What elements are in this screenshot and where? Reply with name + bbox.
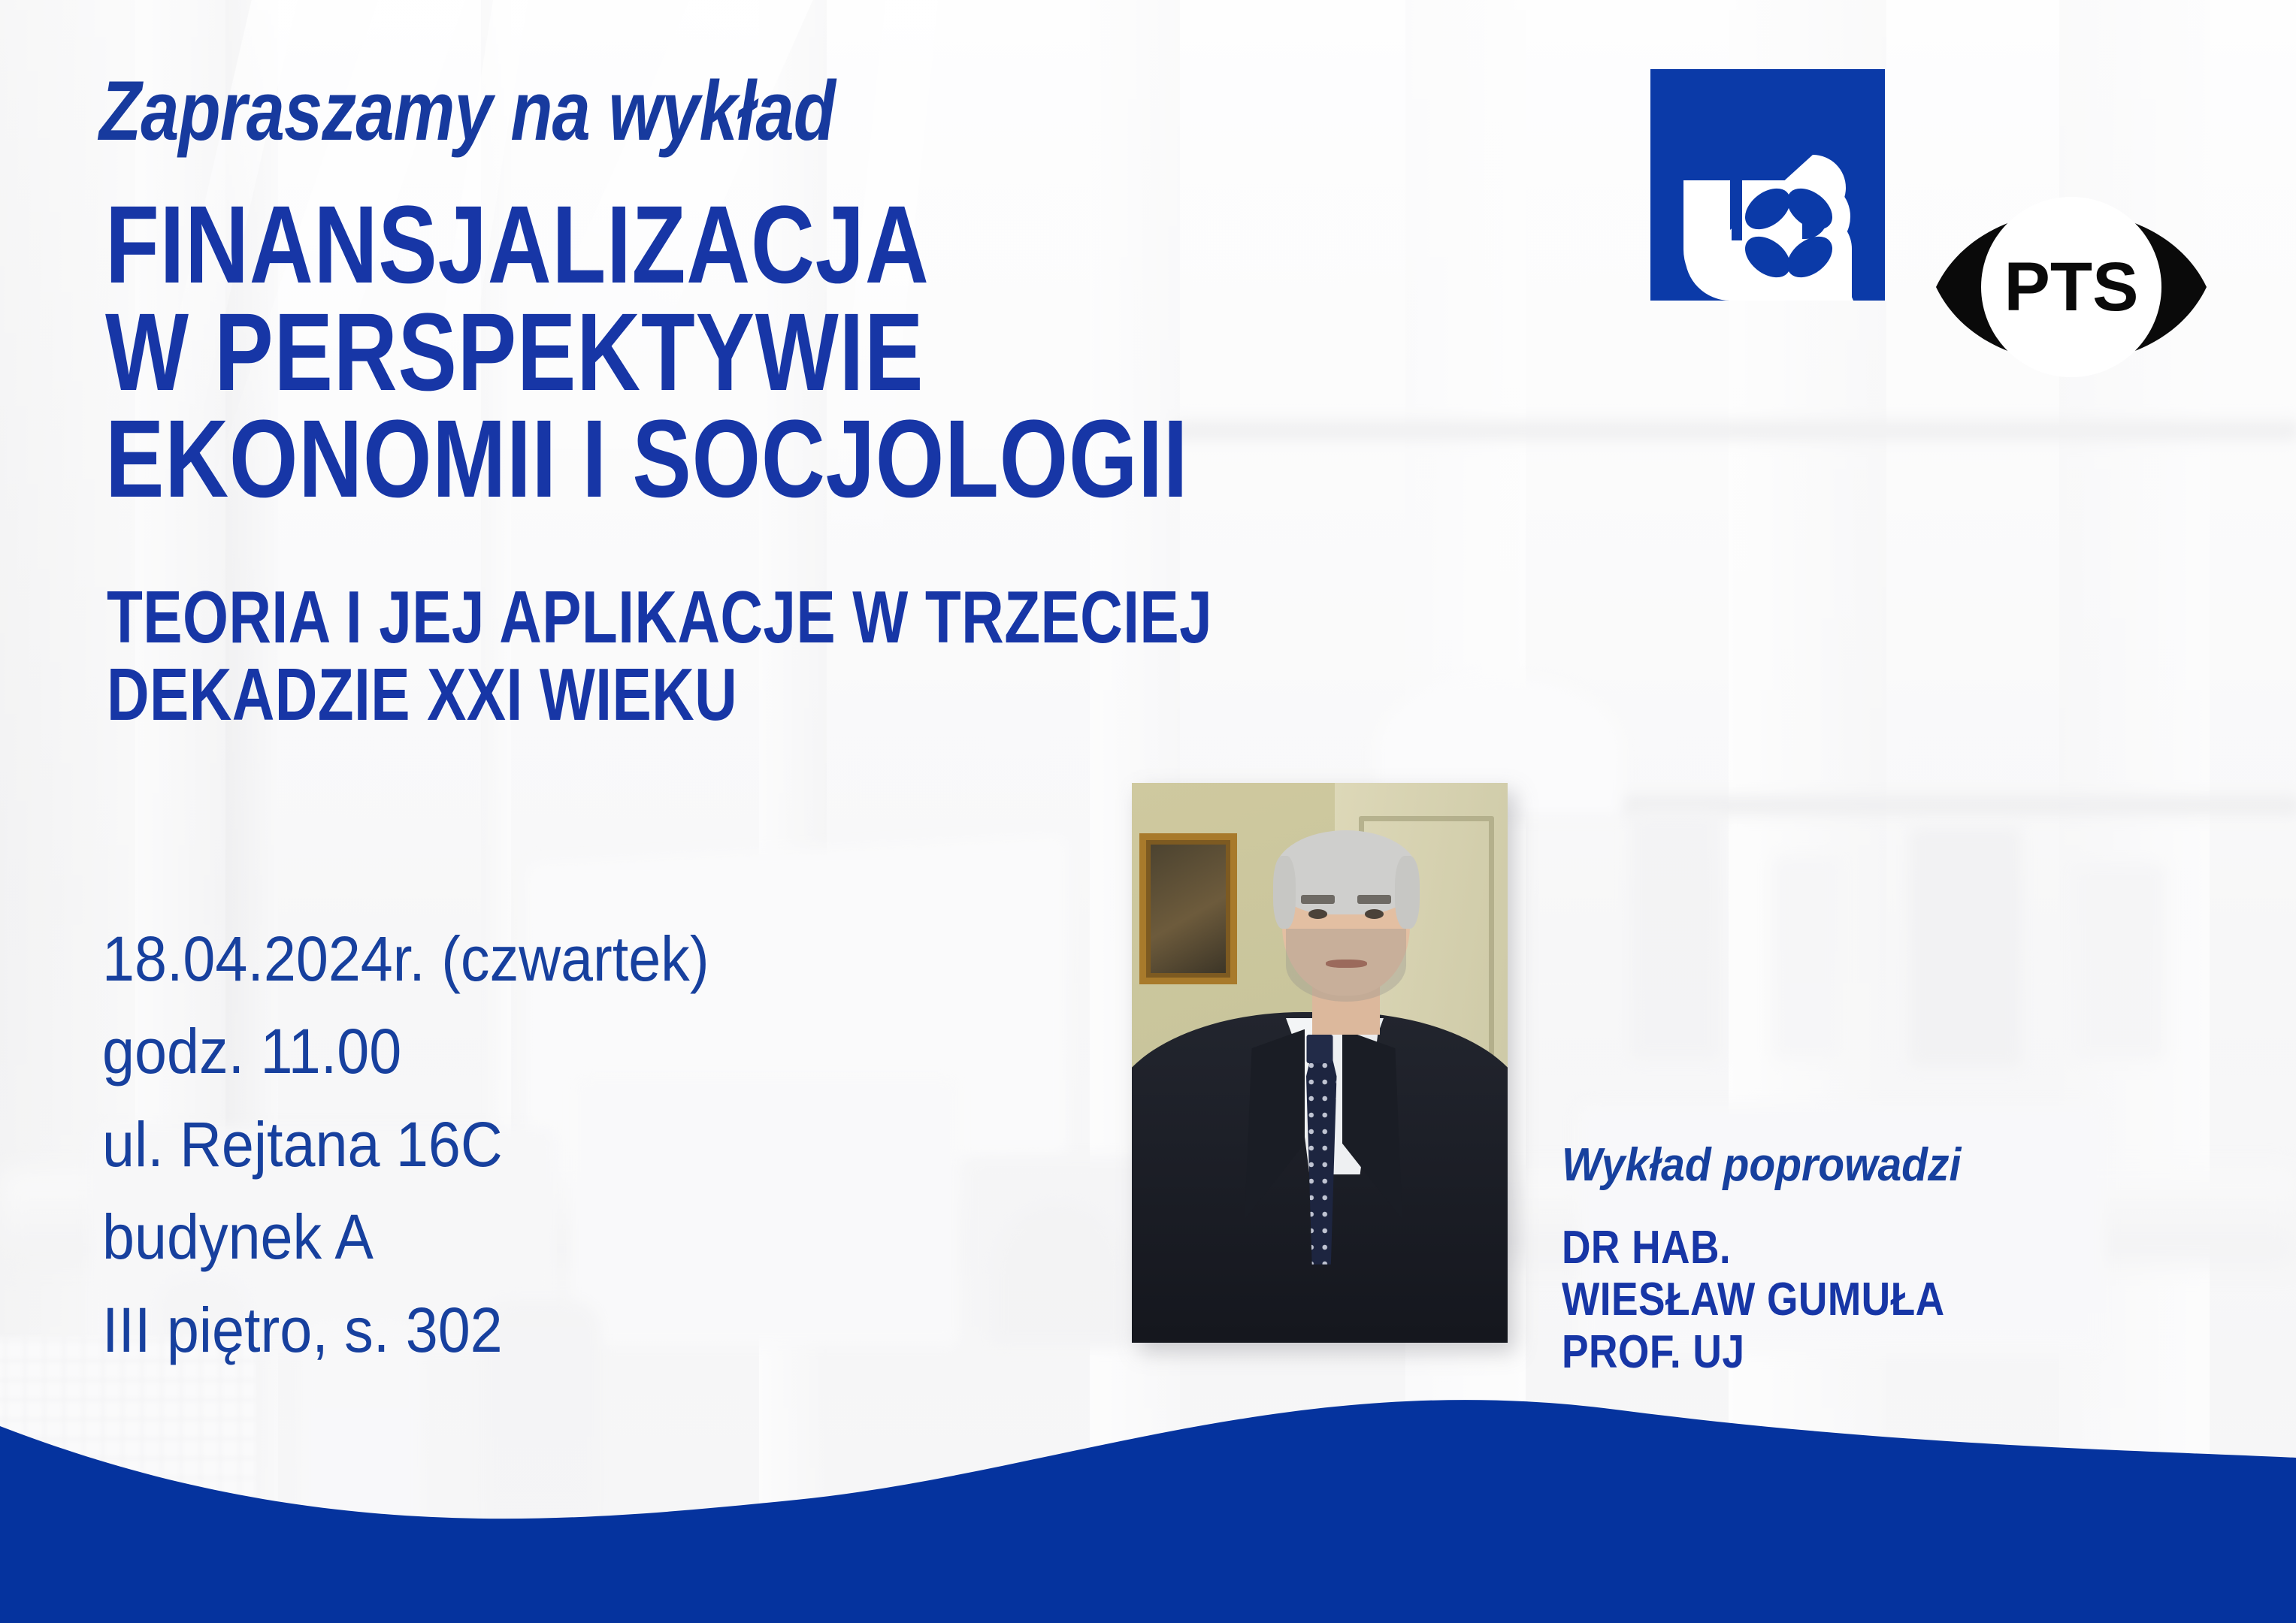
bottom-wave <box>0 1375 2296 1623</box>
pts-logo-icon: PTS <box>1931 147 2211 427</box>
event-details: 18.04.2024r. (czwartek) godz. 11.00 ul. … <box>102 913 709 1377</box>
photo-eyebrow <box>1357 895 1391 904</box>
photo-framed-painting <box>1139 833 1237 984</box>
pts-logo: PTS <box>1931 147 2211 427</box>
ur-logo-icon <box>1650 69 1885 301</box>
page-title: FINANSJALIZACJA W PERSPEKTYWIE EKONOMII … <box>105 192 1188 513</box>
photo-hair <box>1273 856 1296 929</box>
speaker-photo <box>1132 783 1508 1343</box>
ur-logo <box>1650 69 1885 301</box>
speaker-name: DR HAB. WIESŁAW GUMUŁA PROF. UJ <box>1562 1222 2143 1378</box>
speaker-block: Wykład poprowadzi DR HAB. WIESŁAW GUMUŁA… <box>1562 1142 2238 1378</box>
pts-logo-text: PTS <box>2004 249 2139 325</box>
photo-tie-knot <box>1307 1035 1333 1062</box>
photo-eyebrow <box>1301 895 1335 904</box>
invite-heading: Zapraszamy na wykład <box>99 69 835 153</box>
speaker-lead-label: Wykład poprowadzi <box>1562 1142 2184 1189</box>
photo-hair <box>1395 856 1420 929</box>
page-subtitle: TEORIA I JEJ APLIKACJE W TRZECIEJ DEKADZ… <box>107 579 1212 733</box>
poster-canvas: Zapraszamy na wykład FINANSJALIZACJA W P… <box>0 0 2296 1623</box>
photo-mouth <box>1326 960 1367 968</box>
photo-eye <box>1365 909 1384 919</box>
photo-eye <box>1308 909 1327 919</box>
bottom-wave-shape <box>0 1375 2296 1623</box>
